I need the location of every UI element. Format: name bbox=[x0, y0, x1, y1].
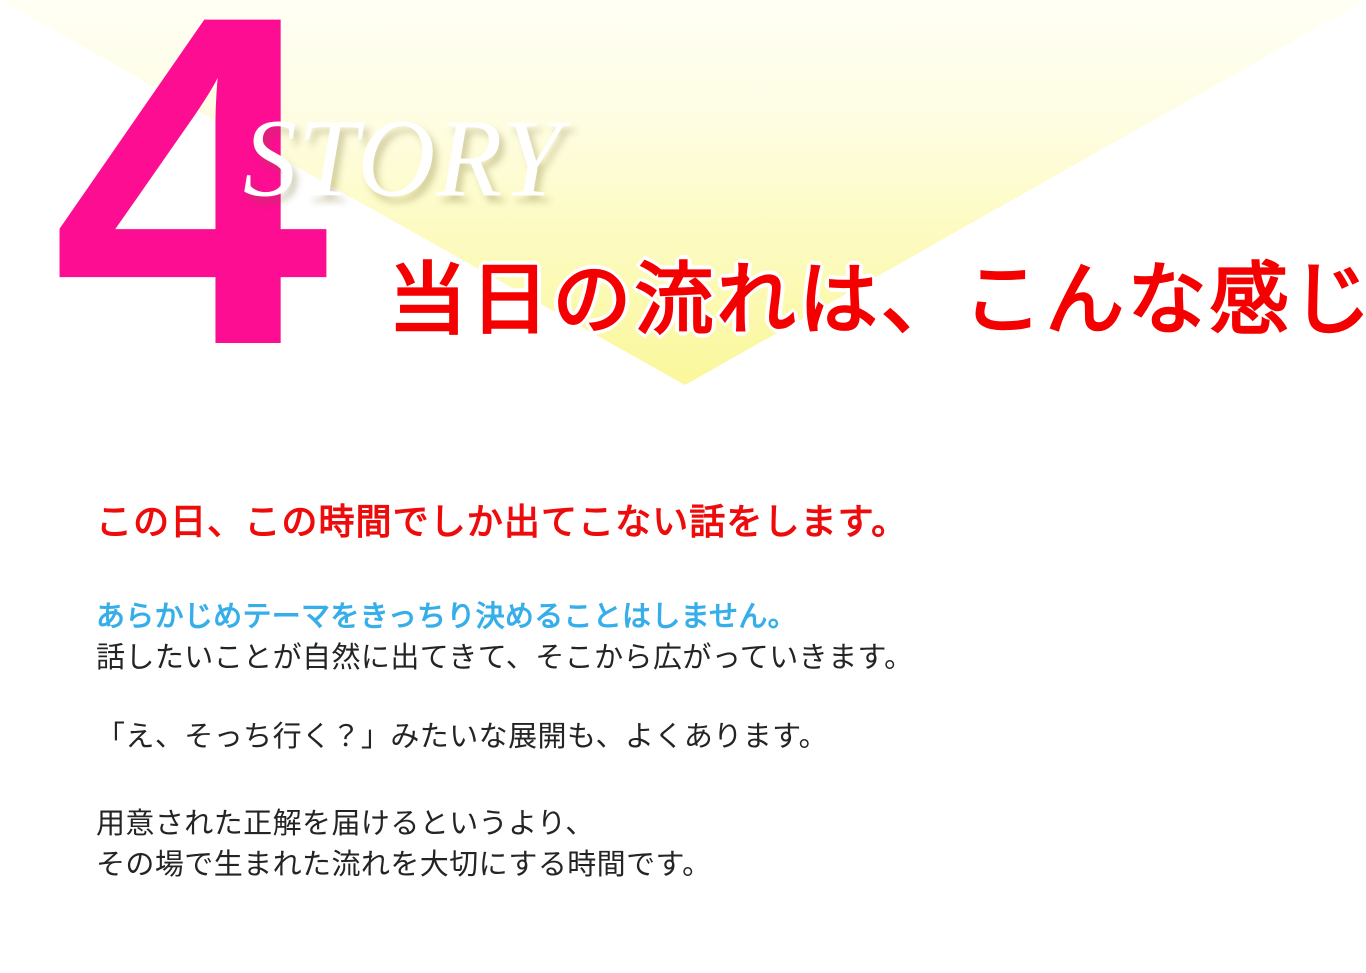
paragraph-line: 「え、そっち行く？」みたいな展開も、よくあります。 bbox=[96, 719, 828, 753]
paragraph-accent-line: あらかじめテーマをきっちり決めることはしません。 bbox=[96, 596, 914, 637]
paragraph-line: 用意された正解を届けるというより、 bbox=[96, 803, 712, 844]
copy-section: この日、この時間でしか出てこない話をします。 あらかじめテーマをきっちり決めるこ… bbox=[96, 500, 1276, 547]
hero-section: 4 STORY 当日の流れは、こんな感じ bbox=[0, 0, 1366, 450]
story-script-label: STORY bbox=[243, 104, 563, 215]
paragraph-block-3: 用意された正解を届けるというより、 その場で生まれた流れを大切にする時間です。 bbox=[96, 803, 712, 885]
paragraph-block-2: 「え、そっち行く？」みたいな展開も、よくあります。 bbox=[96, 716, 828, 757]
slide-canvas: 4 STORY 当日の流れは、こんな感じ この日、この時間でしか出てこない話をし… bbox=[0, 0, 1366, 973]
paragraph-line: 話したいことが自然に出てきて、そこから広がっていきます。 bbox=[96, 640, 914, 674]
paragraph-line: その場で生まれた流れを大切にする時間です。 bbox=[96, 844, 712, 885]
hero-title: 当日の流れは、こんな感じ bbox=[388, 258, 1366, 343]
lead-heading: この日、この時間でしか出てこない話をします。 bbox=[96, 500, 1276, 547]
paragraph-block-1: あらかじめテーマをきっちり決めることはしません。 話したいことが自然に出てきて、… bbox=[96, 596, 914, 678]
